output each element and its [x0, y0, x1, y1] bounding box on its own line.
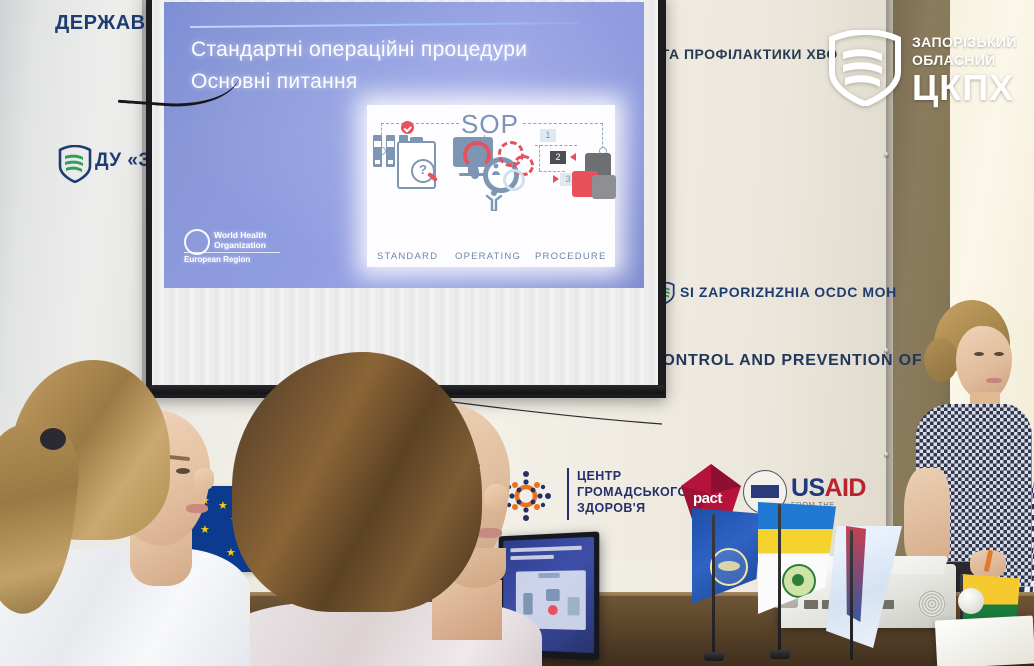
watermark-logo: ЗАПОРІЗЬКИЙ ОБЛАСНИЙ ЦКПХ — [828, 26, 1034, 110]
arrow-left-red-icon — [570, 153, 576, 161]
watermark-line3: ЦКПХ — [912, 70, 1014, 106]
cph-line1: ЦЕНТР — [577, 468, 688, 484]
checkmark-icon — [401, 121, 414, 134]
sop-dash-right-down — [602, 123, 603, 149]
binder-icon — [373, 135, 382, 167]
red-white-flag — [820, 520, 908, 666]
flag-emblem — [710, 548, 748, 586]
projector-vent — [918, 590, 946, 618]
puzzle-piece-gray2-icon — [592, 175, 616, 199]
public-health-center-logo-text: ЦЕНТР ГРОМАДСЬКОГО ЗДОРОВ'Я — [577, 468, 688, 516]
mouse-icon — [471, 167, 479, 179]
banner-screw — [884, 152, 889, 157]
hair-tie — [40, 428, 66, 450]
sop-infographic-card: SOP ? — [367, 105, 615, 267]
who-divider — [184, 252, 280, 253]
lips — [986, 378, 1002, 383]
laptop-slide-sop-heading — [538, 573, 559, 578]
watermark-line2: ОБЛАСНИЙ — [912, 52, 996, 68]
step-badge-1: 1 — [540, 129, 556, 142]
flag-base — [704, 652, 724, 661]
sop-dash-top-right — [523, 123, 603, 124]
paper-stack — [935, 615, 1034, 666]
ocdc-shield-logo — [58, 145, 92, 183]
logo-divider — [567, 468, 569, 520]
lips — [186, 504, 208, 513]
sop-heading: SOP — [461, 109, 519, 140]
arm — [904, 468, 950, 568]
who-line2: Organization — [214, 240, 266, 250]
banner-screw — [884, 452, 889, 457]
banner-right-text-line1: О ТА ПРОФІЛАКТИКИ ХВО — [645, 46, 838, 62]
un-blue-flag — [682, 498, 760, 666]
eye — [176, 468, 190, 474]
eye — [994, 352, 1004, 356]
cph-line3: ЗДОРОВ'Я — [577, 500, 688, 516]
cph-line2: ГРОМАДСЬКОГО — [577, 484, 688, 500]
nose — [194, 468, 214, 490]
watermark-line1: ЗАПОРІЗЬКИЙ — [912, 34, 1017, 50]
procedure-dash-1 — [535, 145, 577, 146]
banner-english-org: SI ZAPORIZHZHIA OCDC MOH — [680, 284, 897, 300]
binder-icon — [386, 135, 395, 167]
procedure-dash-v — [539, 145, 540, 171]
cup — [958, 588, 984, 614]
person-in-gear-icon — [491, 163, 501, 175]
sop-label-standard: STANDARD — [377, 251, 438, 262]
eye — [974, 352, 984, 356]
flag-emblem — [782, 564, 816, 598]
hair — [232, 352, 482, 612]
hair-updo — [924, 338, 958, 382]
laptop-slide-icon — [568, 597, 580, 615]
nose — [484, 484, 508, 512]
laptop-slide-icon — [546, 589, 560, 601]
face — [956, 326, 1012, 400]
laptop-slide-icon — [548, 605, 558, 615]
step-badge-2: 2 — [550, 151, 566, 164]
person-raising-arms-icon — [485, 189, 503, 211]
seated-woman-left — [0, 352, 240, 666]
flag-pole — [778, 504, 781, 654]
who-logo-text: World Health Organization — [214, 230, 266, 250]
procedure-dash-2 — [539, 171, 565, 172]
projected-slide: Стандартні операційні процедури Основні … — [164, 2, 644, 288]
banner-heading-ukrainian: ДЕРЖАВН — [55, 12, 161, 35]
flag-pole — [712, 514, 715, 656]
who-region-label: European Region — [184, 255, 250, 264]
flag-pole — [850, 530, 853, 660]
who-line1: World Health — [214, 230, 266, 240]
arrow-right-red-icon — [553, 175, 559, 183]
banner-english-line: CONTROL AND PREVENTION OF — [650, 352, 922, 370]
sop-label-procedure: PROCEDURE — [535, 251, 607, 262]
flag-base — [770, 650, 790, 659]
photo-scene: ДЕРЖАВН О ТА ПРОФІЛАКТИКИ ХВО И» ДУ «ЗА … — [0, 0, 1034, 666]
sop-dash-top-left — [381, 123, 459, 124]
seated-woman-center — [232, 352, 532, 666]
gear-outline-light-icon — [503, 169, 525, 191]
sop-label-operating: OPERATING — [455, 251, 521, 262]
